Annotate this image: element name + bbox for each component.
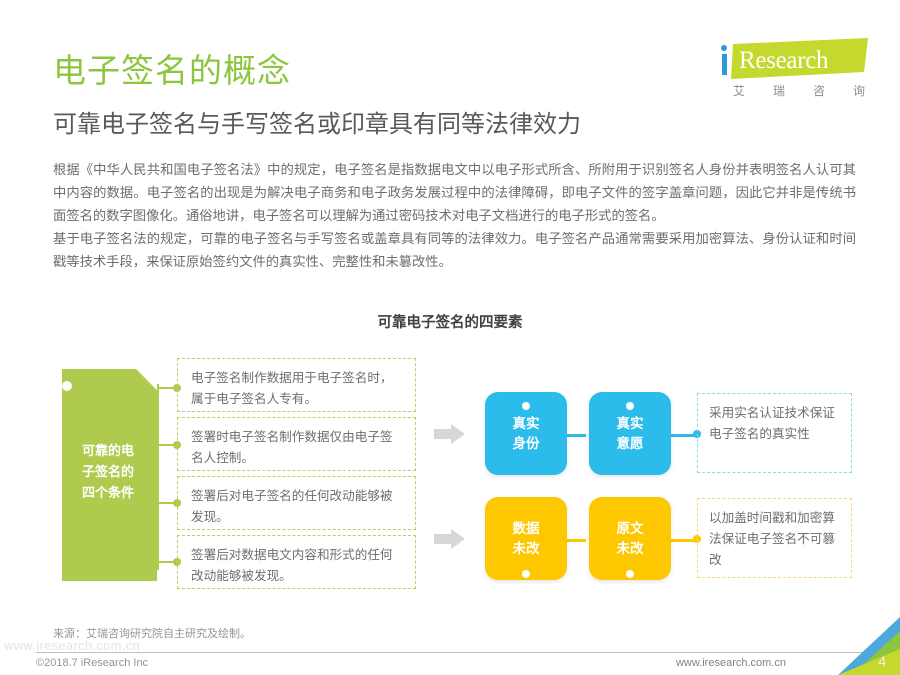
arrow-icon-bottom (434, 529, 467, 549)
logo-i-stem-icon (722, 54, 727, 75)
condition-box-3: 签署后对电子签名的任何改动能够被发现。 (177, 476, 416, 530)
corner-triangle-lime (838, 649, 900, 675)
arrow-head (451, 424, 465, 444)
footer-url: www.iresearch.com.cn (676, 657, 786, 669)
factor-dot-data-unchanged (522, 570, 530, 578)
body-paragraph-1: 根据《中华人民共和国电子签名法》中的规定，电子签名是指数据电文中以电子形式所含、… (53, 158, 856, 227)
copyright-note: ©2018.7 iResearch Inc (36, 657, 148, 669)
logo-cn-char-1: 艾 (733, 82, 745, 99)
corner-decoration (838, 617, 900, 675)
logo-i-dot-icon (721, 45, 727, 51)
body-text: 根据《中华人民共和国电子签名法》中的规定，电子签名是指数据电文中以电子形式所含、… (53, 158, 856, 273)
page-number: 4 (878, 653, 886, 669)
page-subtitle: 可靠电子签名与手写签名或印章具有同等法律效力 (53, 104, 581, 139)
arrow-head (451, 529, 465, 549)
page-title: 电子签名的概念 (53, 44, 291, 92)
factor-dot-real-identity (522, 402, 530, 410)
logo-cn-char-3: 咨 (813, 82, 825, 99)
link-blue-inner (566, 434, 586, 437)
diagram-area: 可靠的电子签名的四个条件 电子签名制作数据用于电子签名时，属于电子签名人专有。 … (0, 344, 900, 606)
arrow-icon-top (434, 424, 467, 444)
body-paragraph-2: 基于电子签名法的规定，可靠的电子签名与手写签名或盖章具有同等的法律效力。电子签名… (53, 227, 856, 273)
condition-box-1: 电子签名制作数据用于电子签名时，属于电子签名人专有。 (177, 358, 416, 412)
link-yellow-inner (566, 539, 586, 542)
factor-box-data-unchanged: 数据未改 (485, 497, 567, 580)
condition-box-2: 签署时电子签名制作数据仅由电子签名人控制。 (177, 417, 416, 471)
footer-divider (36, 652, 864, 653)
tag-hole-icon (62, 381, 72, 391)
factor-dot-text-unchanged (626, 570, 634, 578)
logo-cn-char-4: 询 (853, 82, 865, 99)
logo-chinese-name: 艾 瑞 咨 询 (733, 82, 865, 99)
note-box-timestamp: 以加盖时间戳和加密算法保证电子签名不可篡改 (697, 498, 852, 578)
watermark: www.iresearch.com.cn (4, 638, 140, 653)
note-box-authentication: 采用实名认证技术保证电子签名的真实性 (697, 393, 852, 473)
logo-cn-char-2: 瑞 (773, 82, 785, 99)
slide-page: 电子签名的概念 可靠电子签名与手写签名或印章具有同等法律效力 Research … (0, 0, 900, 675)
tag-label: 可靠的电子签名的四个条件 (62, 440, 154, 503)
connector-spine (157, 384, 159, 570)
factor-dot-real-intent (626, 402, 634, 410)
iresearch-logo: Research 艾 瑞 咨 询 (713, 38, 868, 100)
logo-wordmark: Research (739, 47, 828, 75)
condition-box-4: 签署后对数据电文内容和形式的任何改动能够被发现。 (177, 535, 416, 589)
diagram-title: 可靠电子签名的四要素 (0, 311, 900, 332)
factor-box-text-unchanged: 原文未改 (589, 497, 671, 580)
